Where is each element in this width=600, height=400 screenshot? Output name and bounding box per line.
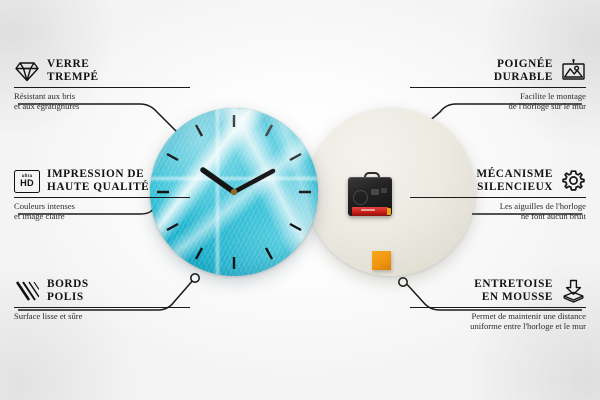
mechanism-body (348, 177, 392, 216)
feature-description: Les aiguilles de l'horloge ne font aucun… (410, 198, 586, 222)
quartz-mechanism (348, 172, 392, 216)
feature-verre-trempe: VERRE TREMPÉ Résistant aux bris et aux é… (14, 58, 190, 112)
framed-picture-icon (560, 58, 586, 84)
feature-description: Couleurs intenses et image claire (14, 198, 190, 222)
feature-title: IMPRESSION DE HAUTE QUALITÉ (47, 168, 149, 193)
polished-edge-icon (14, 278, 40, 304)
foam-spacer-icon (560, 278, 586, 304)
foam-spacer-pad (372, 251, 391, 270)
feature-title: BORDS POLIS (47, 278, 89, 303)
hour-hand (203, 170, 234, 192)
feature-title: ENTRETOISE EN MOUSSE (474, 278, 553, 303)
feature-title: VERRE TREMPÉ (47, 58, 99, 83)
feature-title: MÉCANISME SILENCIEUX (477, 168, 554, 193)
feature-description: Facilite le montage de l'horloge sur le … (410, 88, 586, 112)
mechanism-dial (353, 190, 368, 205)
feature-impression-haute-qualite: ultra HD IMPRESSION DE HAUTE QUALITÉ Cou… (14, 168, 190, 222)
clock-center-cap (231, 189, 237, 195)
feature-description: Permet de maintenir une distance uniform… (410, 308, 586, 332)
feature-poignee-durable: POIGNÉE DURABLE Facilite le montage de l… (410, 58, 586, 112)
feature-bords-polis: BORDS POLIS Surface lisse et sûre (14, 278, 190, 321)
infographic-canvas: VERRE TREMPÉ Résistant aux bris et aux é… (0, 0, 600, 400)
feature-entretoise-en-mousse: ENTRETOISE EN MOUSSE Permet de maintenir… (410, 278, 586, 332)
diamond-icon (14, 58, 40, 84)
feature-description: Résistant aux bris et aux égratignures (14, 88, 190, 112)
endpoint-marker-entretoise (399, 278, 407, 286)
feature-mecanisme-silencieux: MÉCANISME SILENCIEUX Les aiguilles de l'… (410, 168, 586, 222)
ultra-hd-badge-icon: ultra HD (14, 168, 40, 194)
feature-title: POIGNÉE DURABLE (494, 58, 553, 83)
battery (352, 207, 388, 216)
ultra-hd-main-text: HD (20, 179, 34, 188)
mechanism-switch (381, 188, 387, 193)
battery-band (361, 209, 375, 211)
feature-description: Surface lisse et sûre (14, 308, 190, 321)
gear-icon (560, 168, 586, 194)
minute-hand (234, 171, 273, 192)
mechanism-panel (371, 189, 379, 195)
